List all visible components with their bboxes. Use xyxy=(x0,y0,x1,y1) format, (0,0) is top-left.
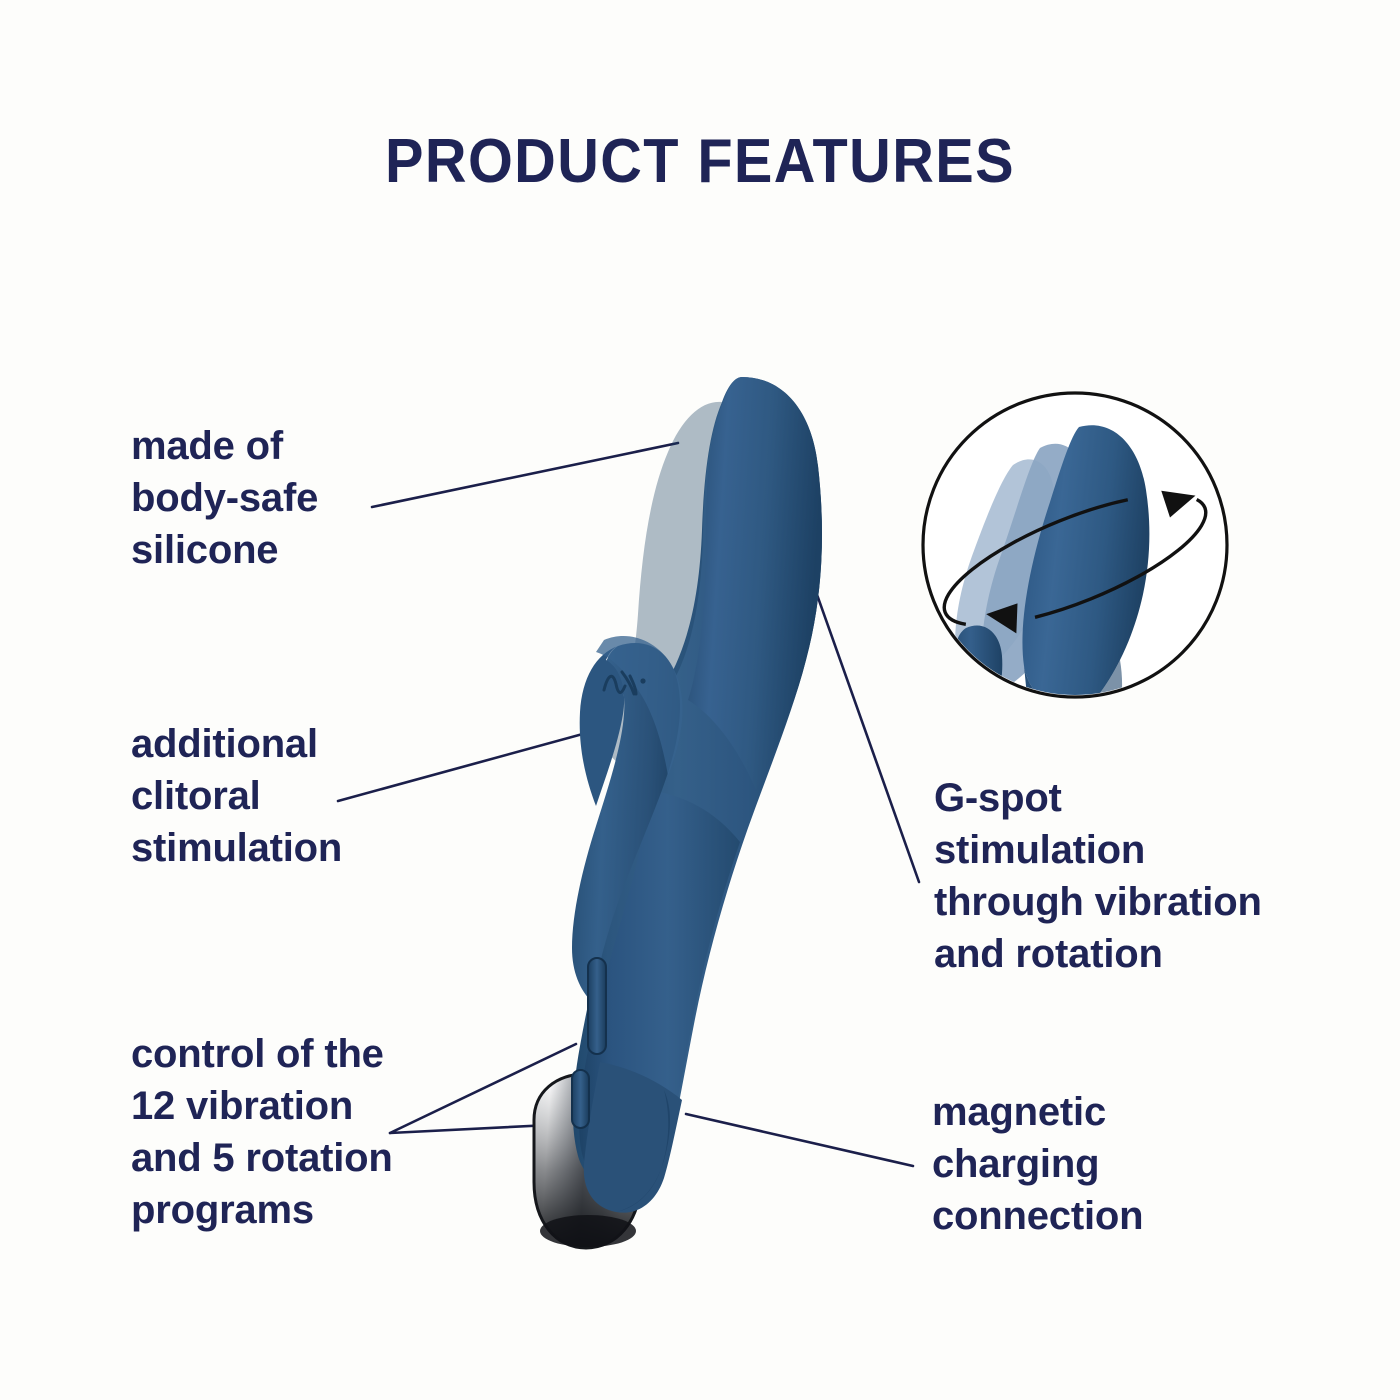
infographic-page: PRODUCT FEATURES xyxy=(0,0,1400,1400)
rotation-detail-circle xyxy=(923,393,1227,726)
callout-label-clitoral: additional clitoral stimulation xyxy=(131,718,481,874)
rotation-clitoral-nub xyxy=(945,626,1003,726)
callout-label-silicone: made of body-safe silicone xyxy=(131,420,471,576)
leader-line-gspot xyxy=(815,589,919,882)
callout-label-gspot: G-spot stimulation through vibration and… xyxy=(934,772,1314,980)
callout-label-control: control of the 12 vibration and 5 rotati… xyxy=(131,1028,471,1236)
control-button-short[interactable] xyxy=(572,1070,589,1128)
leader-line-magnetic xyxy=(686,1114,913,1166)
control-button-long[interactable] xyxy=(588,958,606,1054)
callout-label-magnetic: magnetic charging connection xyxy=(932,1086,1232,1242)
